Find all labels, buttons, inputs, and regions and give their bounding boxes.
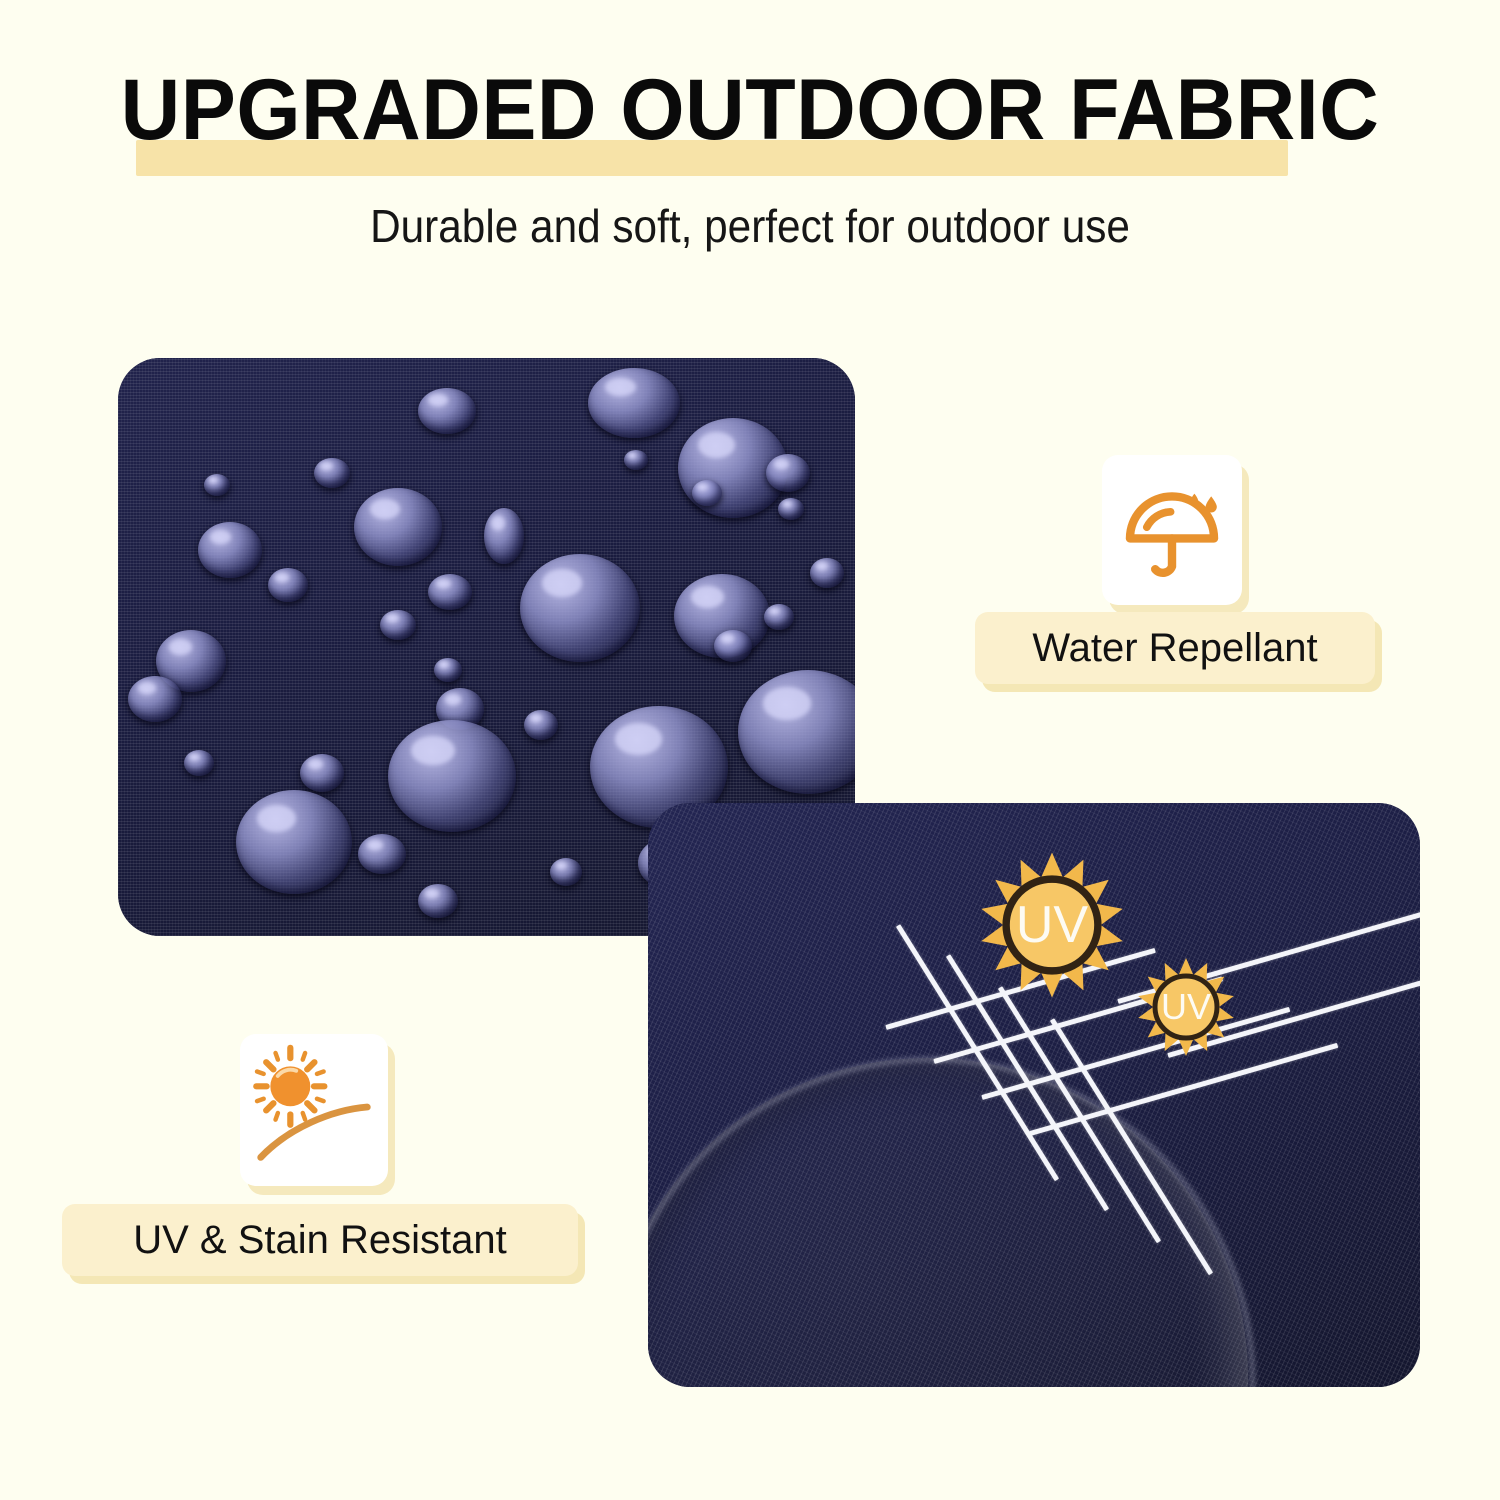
water-droplet <box>810 558 844 588</box>
water-repellant-icon-card <box>1102 455 1242 605</box>
water-repellant-label: Water Repellant <box>1032 625 1317 671</box>
water-droplet <box>380 610 416 640</box>
sun-horizon-icon <box>240 1034 388 1186</box>
umbrella-icon <box>1102 455 1242 605</box>
water-droplet <box>524 710 558 740</box>
water-droplet <box>418 388 476 434</box>
uv-stain-resistant-label-pill: UV & Stain Resistant <box>62 1204 578 1276</box>
uv-sun-badge-small: UV <box>1136 957 1236 1057</box>
photo-uv-blocking-fabric: UV UV <box>648 803 1420 1387</box>
water-droplet <box>588 368 680 438</box>
page-header: UPGRADED OUTDOOR FABRIC <box>0 62 1500 172</box>
uv-stain-resistant-label: UV & Stain Resistant <box>133 1217 507 1263</box>
water-droplet <box>624 450 648 470</box>
uv-stain-resistant-icon-card <box>240 1034 388 1186</box>
water-droplet <box>418 884 458 918</box>
water-droplet <box>314 458 350 488</box>
uv-sun-badge-large: UV <box>978 851 1126 999</box>
infographic-root: UPGRADED OUTDOOR FABRIC Durable and soft… <box>0 0 1500 1500</box>
water-repellant-label-pill: Water Repellant <box>975 612 1375 684</box>
water-droplet <box>300 754 344 792</box>
water-droplet <box>550 858 582 886</box>
water-droplet <box>428 574 472 610</box>
water-droplet <box>484 508 524 564</box>
page-subtitle: Durable and soft, perfect for outdoor us… <box>60 198 1440 254</box>
water-droplet <box>204 474 230 496</box>
water-droplet <box>766 454 810 492</box>
water-droplet <box>388 720 516 832</box>
water-droplet <box>358 834 406 874</box>
water-droplet <box>184 750 214 776</box>
water-droplet <box>198 522 262 578</box>
water-droplet <box>354 488 442 566</box>
water-droplet <box>692 480 722 506</box>
water-droplet <box>520 554 640 662</box>
water-droplet <box>236 790 352 894</box>
water-droplet <box>268 568 308 602</box>
water-droplet <box>778 498 804 520</box>
water-droplet <box>714 630 752 662</box>
water-droplet <box>764 604 794 630</box>
page-title: UPGRADED OUTDOOR FABRIC <box>30 62 1470 158</box>
water-droplet <box>128 676 182 722</box>
water-droplet <box>434 658 462 682</box>
